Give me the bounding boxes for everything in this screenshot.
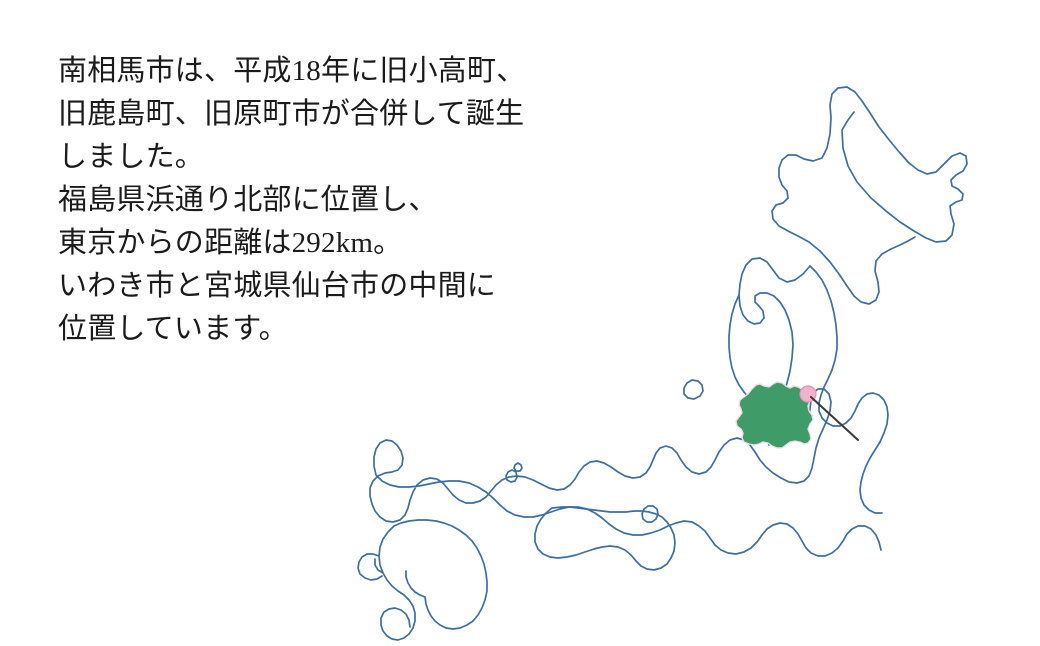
kyushu-outline [358,520,487,640]
infographic-page: 南相馬市は、平成18年に旧小高町、 旧鹿島町、旧原町市が合併して誕生 しました。… [0,0,1040,646]
oki-islands-outline [506,463,522,482]
japan-map-svg [330,8,1030,642]
shikoku-outline [535,507,675,570]
japan-map-figure: 南相馬市 [330,8,1030,642]
sado-island-outline [684,380,703,399]
hokkaido-outline [772,87,967,304]
